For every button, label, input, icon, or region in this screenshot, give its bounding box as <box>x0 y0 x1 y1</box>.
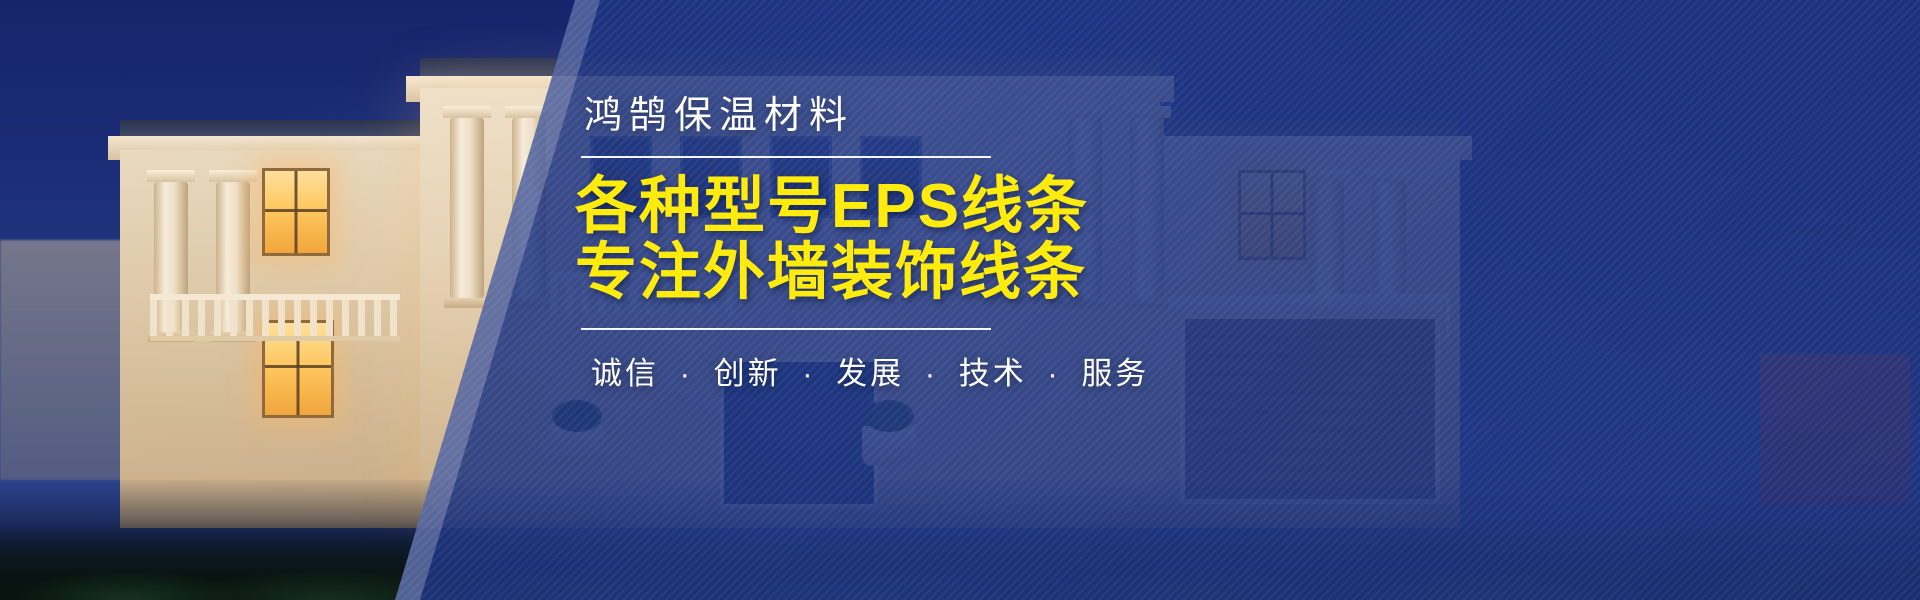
divider-line-top <box>581 156 991 158</box>
tagline-separator-icon: · <box>671 356 702 391</box>
headline-line-1: 各种型号EPS线条 <box>575 174 1195 240</box>
tagline-separator-icon: · <box>916 356 947 391</box>
tagline: 诚信 · 创新 · 发展 · 技术 · 服务 <box>575 348 1195 393</box>
tagline-item: 创新 <box>714 356 782 391</box>
banner-text-block: 鸿鹄保温材料 各种型号EPS线条 专注外墙装饰线条 诚信 · 创新 · 发展 ·… <box>575 96 1195 393</box>
divider-line-bottom <box>581 328 991 330</box>
brand-subtitle: 鸿鹄保温材料 <box>575 96 1195 138</box>
tagline-item: 诚信 <box>591 356 659 391</box>
tagline-item: 服务 <box>1081 356 1149 391</box>
promo-banner: 鸿鹄保温材料 各种型号EPS线条 专注外墙装饰线条 诚信 · 创新 · 发展 ·… <box>0 0 1920 600</box>
tagline-separator-icon: · <box>793 356 824 391</box>
tagline-separator-icon: · <box>1038 356 1069 391</box>
tagline-item: 技术 <box>959 356 1027 391</box>
headline-line-2: 专注外墙装饰线条 <box>575 240 1195 306</box>
tagline-item: 发展 <box>836 356 904 391</box>
